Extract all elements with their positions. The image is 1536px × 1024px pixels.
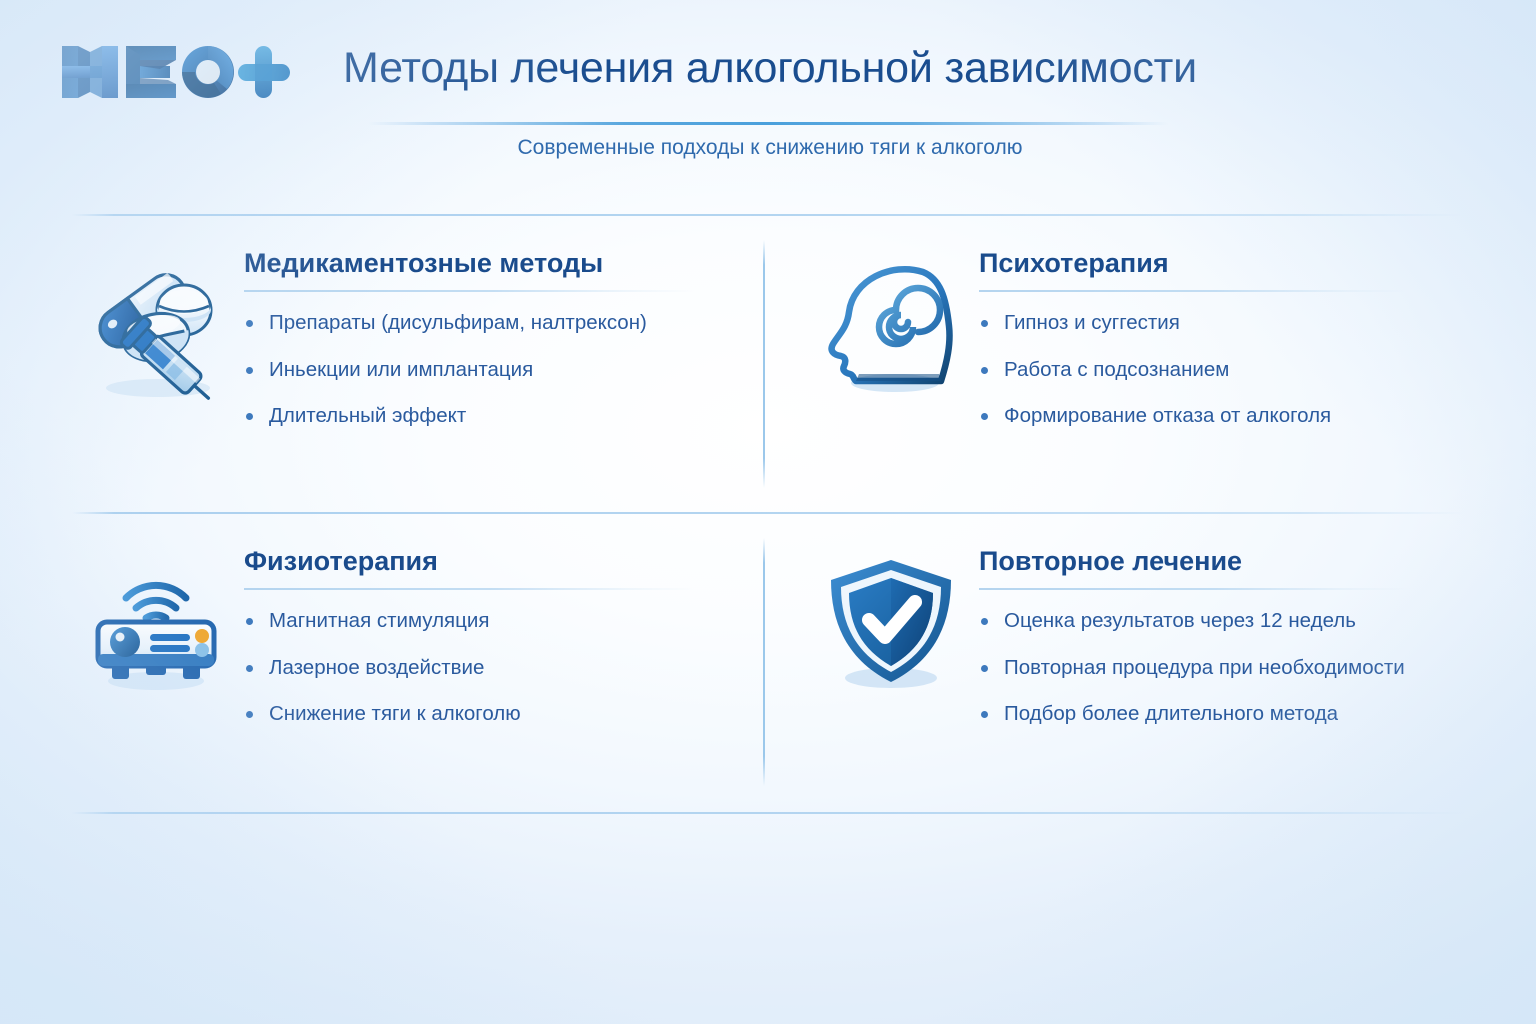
- list-item: Длительный эффект: [244, 403, 740, 430]
- list-item-label: Оценка результатов через 12 недель: [1004, 609, 1356, 632]
- bullet-dot-icon: [981, 711, 988, 718]
- divider-vertical-bottom: [763, 538, 765, 786]
- list-item-label: Лазерное воздействие: [269, 656, 484, 679]
- divider-bottom: [72, 812, 1464, 814]
- bullet-dot-icon: [246, 413, 253, 420]
- bullet-dot-icon: [246, 320, 253, 327]
- list-item: Повторная процедура при необходимости: [979, 655, 1455, 682]
- card-medication: Медикаментозные методы Препараты (дисуль…: [80, 248, 740, 430]
- bullet-list: Оценка результатов через 12 недель Повто…: [979, 590, 1455, 728]
- list-item: Снижение тяги к алкоголю: [244, 701, 740, 728]
- divider-middle: [72, 512, 1464, 514]
- list-item-label: Длительный эффект: [269, 404, 466, 427]
- head-spiral-icon: [815, 252, 967, 404]
- list-item: Гипноз и суггестия: [979, 310, 1455, 337]
- page-title: Методы лечения алкогольной зависимости: [300, 44, 1240, 93]
- list-item-label: Магнитная стимуляция: [269, 609, 489, 632]
- list-item: Работа с подсознанием: [979, 357, 1455, 384]
- list-item-label: Работа с подсознанием: [1004, 358, 1229, 381]
- bullet-dot-icon: [981, 413, 988, 420]
- bullet-dot-icon: [246, 711, 253, 718]
- list-item: Формирование отказа от алкоголя: [979, 403, 1455, 430]
- pills-syringe-icon: [80, 252, 232, 404]
- list-item-label: Снижение тяги к алкоголю: [269, 702, 521, 725]
- list-item-label: Препараты (дисульфирам, налтрексон): [269, 311, 647, 334]
- list-item: Иньекции или имплантация: [244, 357, 740, 384]
- bullet-dot-icon: [981, 618, 988, 625]
- list-item-label: Гипноз и суггестия: [1004, 311, 1180, 334]
- page-subtitle: Современные подходы к снижению тяги к ал…: [300, 136, 1240, 160]
- divider-vertical-top: [763, 240, 765, 488]
- bullet-list: Препараты (дисульфирам, налтрексон) Инье…: [244, 292, 740, 430]
- bullet-dot-icon: [981, 367, 988, 374]
- header-divider: [368, 122, 1168, 125]
- card-title: Повторное лечение: [979, 546, 1455, 578]
- infographic-poster: Методы лечения алкогольной зависимости С…: [0, 0, 1536, 1024]
- card-title: Физиотерапия: [244, 546, 740, 578]
- card-body: Повторное лечение Оценка результатов чер…: [967, 546, 1455, 728]
- list-item-label: Иньекции или имплантация: [269, 358, 533, 381]
- card-title: Медикаментозные методы: [244, 248, 740, 280]
- header: Методы лечения алкогольной зависимости С…: [0, 0, 1536, 200]
- bullet-dot-icon: [981, 665, 988, 672]
- list-item: Лазерное воздействие: [244, 655, 740, 682]
- list-item: Оценка результатов через 12 недель: [979, 608, 1455, 635]
- bullet-dot-icon: [246, 665, 253, 672]
- divider-top: [72, 214, 1464, 216]
- bullet-list: Гипноз и суггестия Работа с подсознанием…: [979, 292, 1455, 430]
- list-item-label: Формирование отказа от алкоголя: [1004, 404, 1331, 427]
- list-item-label: Повторная процедура при необходимости: [1004, 656, 1405, 679]
- bullet-dot-icon: [246, 367, 253, 374]
- card-repeat-treatment: Повторное лечение Оценка результатов чер…: [815, 546, 1455, 728]
- shield-check-icon: [815, 550, 967, 702]
- card-title: Психотерапия: [979, 248, 1455, 280]
- list-item: Препараты (дисульфирам, налтрексон): [244, 310, 740, 337]
- therapy-device-icon: [80, 550, 232, 702]
- list-item-label: Подбор более длительного метода: [1004, 702, 1338, 725]
- card-psychotherapy: Психотерапия Гипноз и суггестия Работа с…: [815, 248, 1455, 430]
- list-item: Магнитная стимуляция: [244, 608, 740, 635]
- card-body: Физиотерапия Магнитная стимуляция Лазерн…: [232, 546, 740, 728]
- bullet-list: Магнитная стимуляция Лазерное воздействи…: [244, 590, 740, 728]
- card-body: Медикаментозные методы Препараты (дисуль…: [232, 248, 740, 430]
- bullet-dot-icon: [246, 618, 253, 625]
- list-item: Подбор более длительного метода: [979, 701, 1455, 728]
- card-body: Психотерапия Гипноз и суггестия Работа с…: [967, 248, 1455, 430]
- bullet-dot-icon: [981, 320, 988, 327]
- neo-plus-logo: [56, 36, 296, 108]
- card-physiotherapy: Физиотерапия Магнитная стимуляция Лазерн…: [80, 546, 740, 728]
